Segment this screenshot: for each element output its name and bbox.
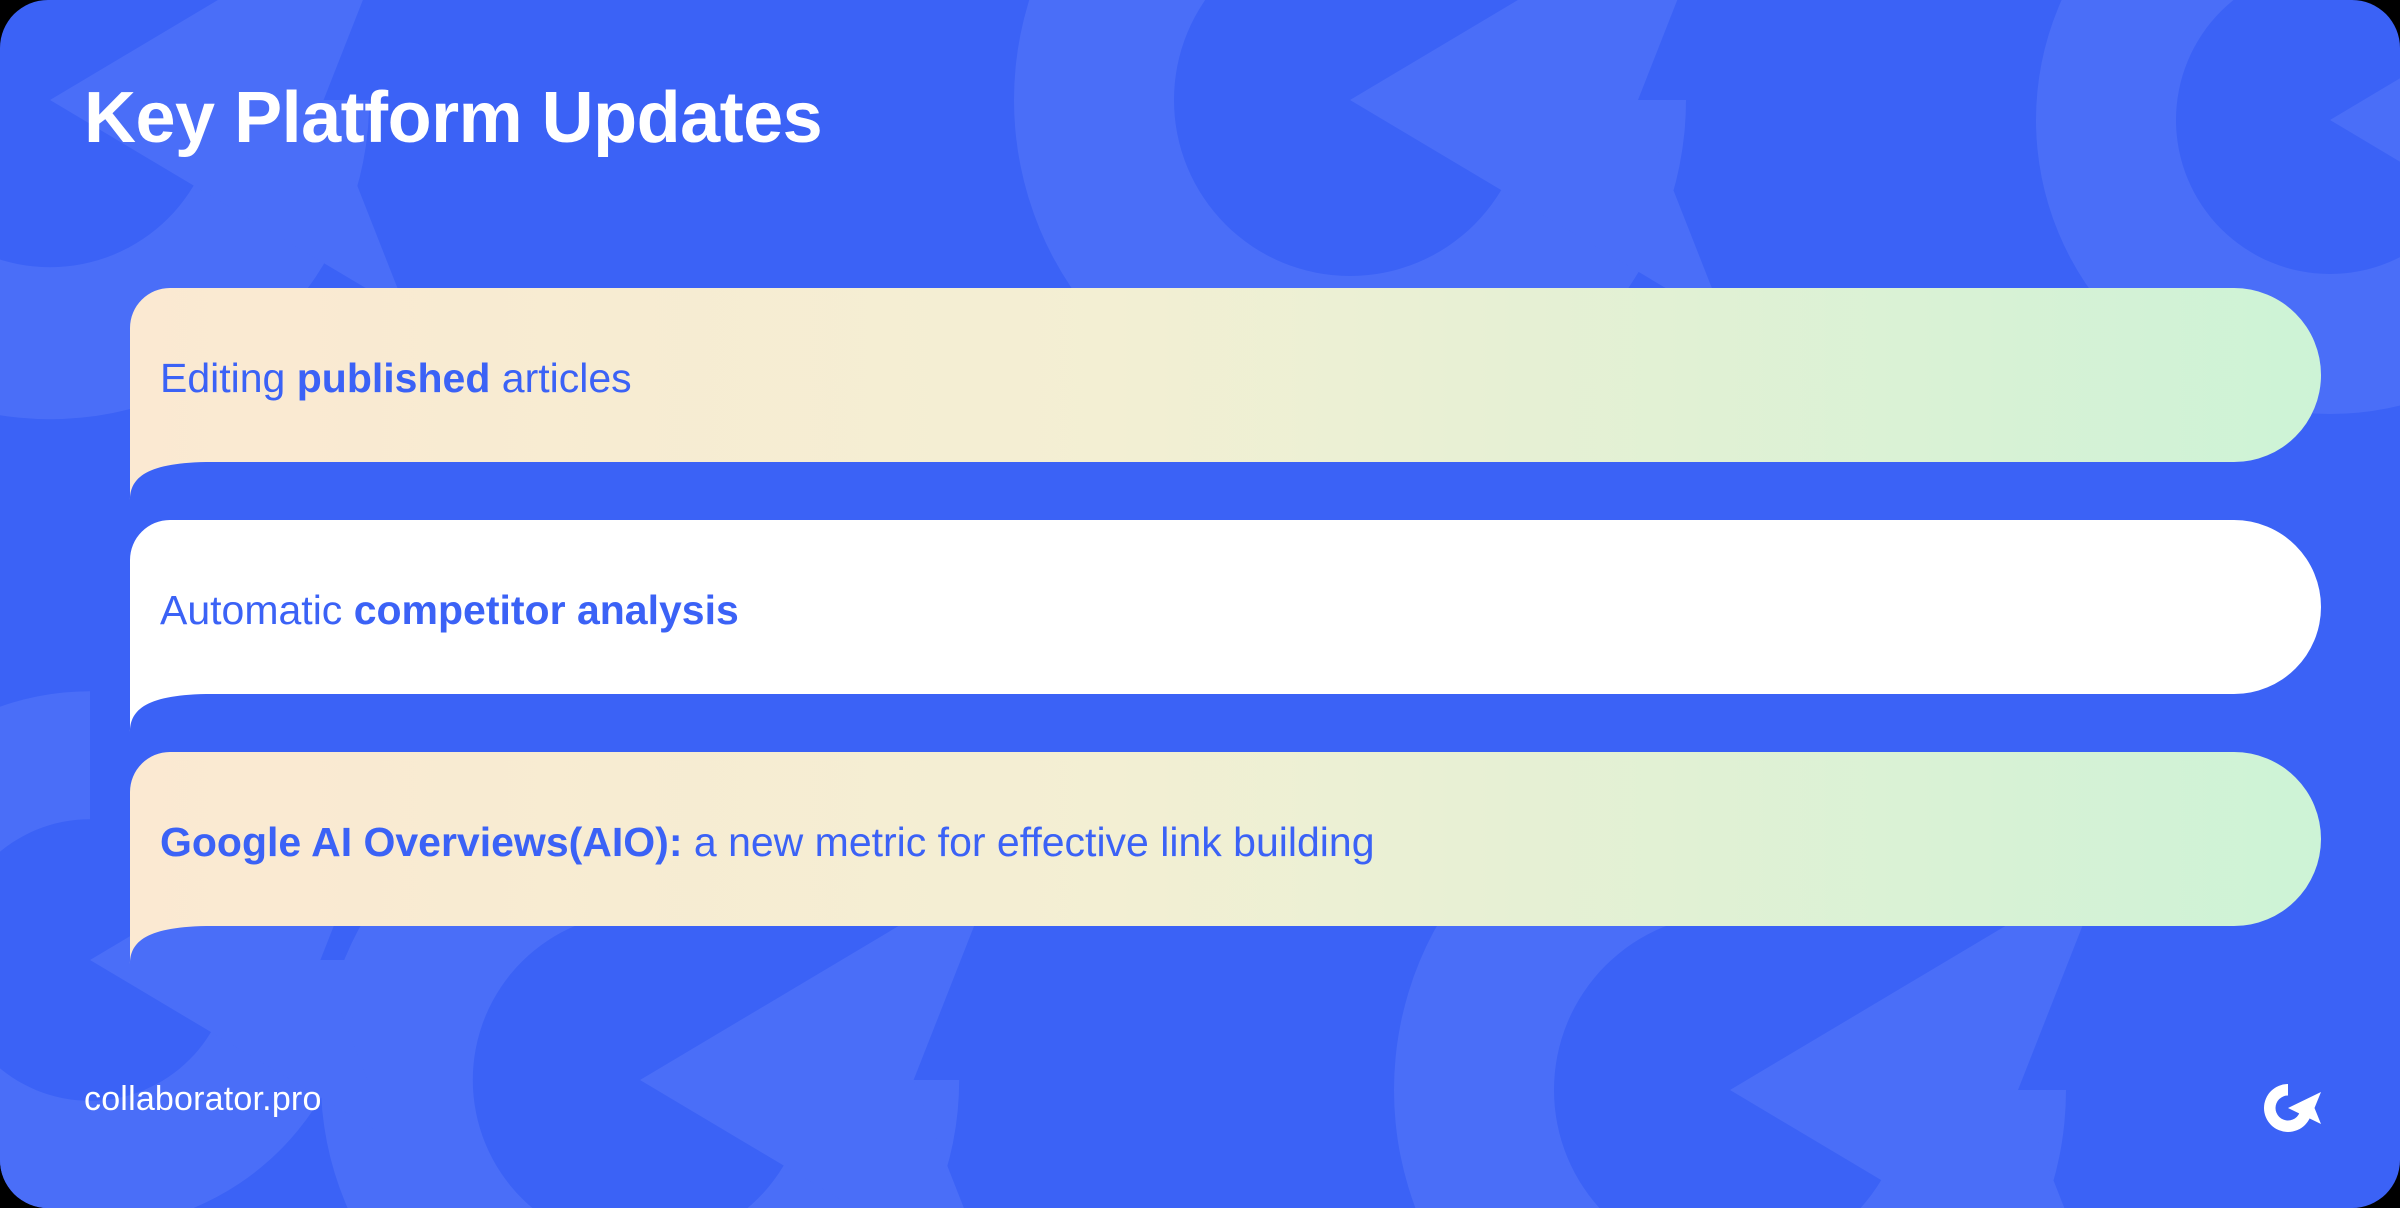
slide-canvas: Key Platform Updates Editing published a… xyxy=(0,0,2400,1208)
footer-website-url: collaborator.pro xyxy=(84,1080,322,1119)
card-text: Automatic competitor analysis xyxy=(160,586,739,635)
card-text-bold: competitor analysis xyxy=(354,587,739,633)
card-text-tail: articles xyxy=(490,355,631,401)
update-card[interactable]: Editing published articles xyxy=(82,288,2322,500)
update-card[interactable]: Google AI Overviews(AIO): a new metric f… xyxy=(82,752,2322,964)
card-text-lead: Editing xyxy=(160,355,297,401)
card-text: Google AI Overviews(AIO): a new metric f… xyxy=(160,818,1375,867)
card-text: Editing published articles xyxy=(160,354,632,403)
update-card[interactable]: Automatic competitor analysis xyxy=(82,520,2322,732)
card-text-lead: Automatic xyxy=(160,587,354,633)
card-text-bold: Google AI Overviews(AIO): xyxy=(160,819,682,865)
card-text-tail: a new metric for effective link building xyxy=(682,819,1374,865)
page-title: Key Platform Updates xyxy=(84,82,822,154)
collaborator-logo-icon xyxy=(2262,1082,2324,1134)
card-text-bold: published xyxy=(297,355,491,401)
